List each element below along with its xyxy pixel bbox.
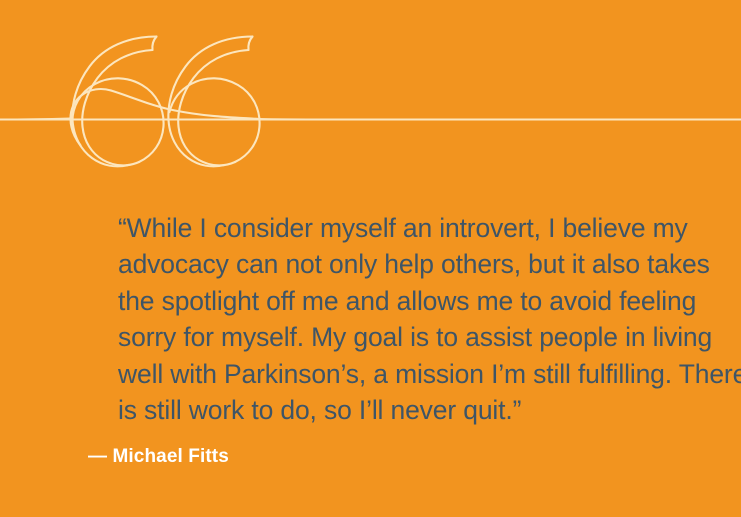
quote-mark-ornament <box>0 0 741 185</box>
ornament-glyph-one-tail <box>71 89 112 146</box>
ornament-glyph-one-hook <box>72 37 156 167</box>
quote-attribution: — Michael Fitts <box>88 444 229 470</box>
quote-card: “While I consider myself an introvert, I… <box>0 0 741 517</box>
ornament-connector-middle <box>111 91 260 120</box>
ornament-glyph-two-bowl <box>170 78 260 162</box>
ornament-connector-right <box>260 119 331 120</box>
quote-text: “While I consider myself an introvert, I… <box>118 210 741 430</box>
ornament-connector-left <box>0 119 71 120</box>
ornament-glyph-one-nib <box>152 37 156 51</box>
ornament-glyph-two-hook <box>168 37 252 167</box>
ornament-glyph-one-bowl <box>72 78 163 162</box>
ornament-glyph-two-nib <box>248 37 252 51</box>
ornament-glyph-two-inner <box>178 50 248 165</box>
ornament-glyph-one-inner <box>82 50 152 165</box>
